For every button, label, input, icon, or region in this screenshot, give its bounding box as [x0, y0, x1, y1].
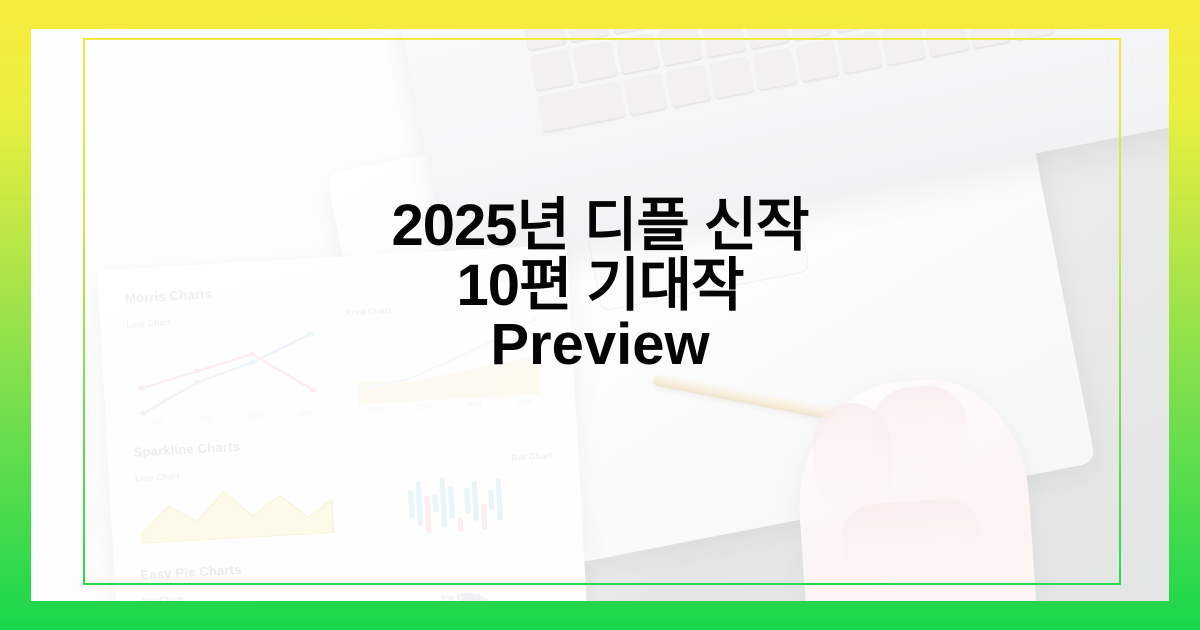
spark-bar: [496, 478, 503, 520]
spark-bar: [416, 482, 423, 526]
page-title: 2025년 디플 신작 10편 기대작 Preview: [0, 196, 1200, 375]
chart-subtitle: Bar Chart: [142, 585, 341, 601]
keyboard-key: [623, 73, 668, 116]
spark-bar: [472, 481, 479, 521]
keyboard-key: [709, 56, 754, 99]
spark-bar: [439, 477, 447, 527]
title-line-3: Preview: [0, 315, 1200, 375]
axis-tick: 2013: [249, 413, 263, 420]
preview-card: Morris Charts Line Chart: [0, 0, 1200, 630]
axis-tick: 2014: [518, 398, 532, 405]
axis-tick: 2014: [299, 411, 313, 418]
axis-tick: 2011: [150, 419, 163, 426]
keyboard-key: [838, 31, 883, 74]
sparkline-area-chart: [136, 479, 338, 546]
paper-chart-cell: Bar Chart: [142, 585, 346, 601]
axis-tick: 2013: [468, 401, 482, 408]
spark-bar: [448, 486, 455, 518]
paper-chart-row: Line Chart Bar Chart: [135, 450, 557, 549]
axis-tick: 2012: [199, 416, 213, 423]
spark-bar: [424, 495, 431, 533]
keyboard-key: [1010, 29, 1055, 41]
keyboard-key: [701, 29, 746, 59]
keyboard-key: [564, 29, 609, 43]
title-line-1: 2025년 디플 신작: [0, 196, 1200, 256]
finger: [839, 497, 984, 577]
keyboard-key: [666, 64, 711, 107]
spark-bar: [408, 490, 415, 518]
paper-chart-cell: Bar Chart: [353, 450, 556, 537]
title-line-2: 10편 기대작: [0, 256, 1200, 316]
spark-bar: [481, 504, 487, 530]
axis-tick: 2011: [369, 407, 382, 414]
keyboard-key: [572, 40, 617, 83]
sparkline-area-svg: [136, 479, 338, 546]
axis-tick: 2012: [418, 404, 432, 411]
finger: [869, 383, 971, 485]
paper-chart-cell: Pie Chart: [360, 573, 565, 601]
keyboard-key: [881, 29, 926, 66]
spark-bar: [432, 494, 438, 512]
keyboard-key: [744, 29, 789, 50]
paper-chart-cell: Line Chart: [135, 463, 338, 550]
keyboard-key: [795, 39, 840, 82]
spark-bar: [458, 517, 464, 531]
keyboard-key: [658, 29, 703, 67]
keyboard-key: [967, 29, 1012, 49]
keyboard-key: [924, 29, 969, 58]
sparkline-bar-chart: [354, 466, 556, 537]
spark-bar: [464, 488, 470, 514]
keyboard: [521, 29, 1054, 133]
spark-bar: [488, 490, 494, 510]
keyboard-key: [615, 32, 660, 75]
keyboard-key: [529, 49, 574, 92]
chart-subtitle: Pie Chart: [441, 592, 481, 601]
keyboard-key: [521, 29, 566, 51]
keyboard-key: [752, 48, 797, 91]
